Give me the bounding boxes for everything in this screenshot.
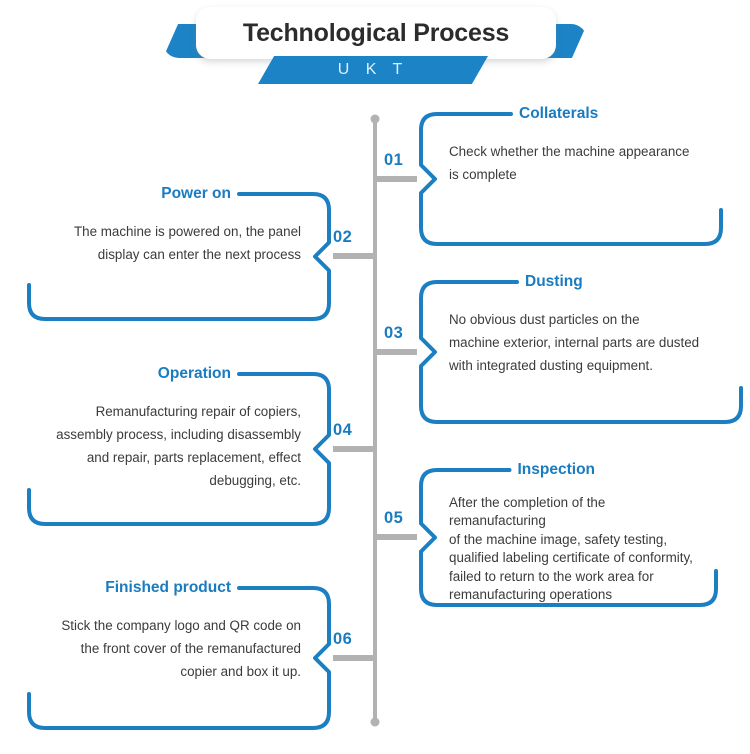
item-body: No obvious dust particles on themachine …	[449, 308, 729, 377]
timeline-item-05[interactable]: InspectionAfter the completion of the re…	[421, 470, 716, 605]
item-body-line: qualified labeling certificate of confor…	[449, 549, 704, 568]
item-body-line: with integrated dusting equipment.	[449, 354, 729, 377]
item-body: The machine is powered on, the paneldisp…	[41, 220, 301, 266]
item-number: 03	[384, 324, 403, 343]
timeline-ticks	[333, 179, 417, 658]
item-body-line: Stick the company logo and QR code on	[41, 614, 301, 637]
timeline-item-06[interactable]: Finished productStick the company logo a…	[29, 588, 329, 728]
item-body-line: display can enter the next process	[41, 243, 301, 266]
item-number: 04	[333, 421, 352, 440]
timeline-dot-bottom	[371, 718, 380, 727]
item-number: 01	[384, 151, 403, 170]
item-heading: Collaterals	[519, 105, 598, 123]
item-body-line: debugging, etc.	[41, 469, 301, 492]
item-number: 06	[333, 630, 352, 649]
item-body: Stick the company logo and QR code onthe…	[41, 614, 301, 683]
item-body-line: Remanufacturing repair of copiers,	[41, 400, 301, 423]
page-header: Technological Process U K T	[0, 0, 750, 100]
header-subtitle: U K T	[258, 56, 488, 84]
item-heading: Finished product	[105, 579, 231, 597]
item-body-line: The machine is powered on, the panel	[41, 220, 301, 243]
item-body-line: is complete	[449, 163, 709, 186]
item-body-line: copier and box it up.	[41, 660, 301, 683]
item-body-line: remanufacturing operations	[449, 586, 704, 605]
item-body: Check whether the machine appearanceis c…	[449, 140, 709, 186]
item-heading: Power on	[161, 185, 231, 203]
item-body-line: assembly process, including disassembly	[41, 423, 301, 446]
timeline-item-04[interactable]: OperationRemanufacturing repair of copie…	[29, 374, 329, 524]
item-body-line: failed to return to the work area for	[449, 568, 704, 587]
item-body-line: the front cover of the remanufactured	[41, 637, 301, 660]
item-body-line: machine exterior, internal parts are dus…	[449, 331, 729, 354]
item-heading: Dusting	[525, 273, 583, 291]
item-body: After the completion of the remanufactur…	[449, 494, 704, 605]
timeline-item-01[interactable]: CollateralsCheck whether the machine app…	[421, 114, 721, 244]
item-number: 02	[333, 228, 352, 247]
item-heading: Inspection	[518, 461, 596, 479]
item-body-line: No obvious dust particles on the	[449, 308, 729, 331]
timeline-item-02[interactable]: Power onThe machine is powered on, the p…	[29, 194, 329, 319]
item-body-line: and repair, parts replacement, effect	[41, 446, 301, 469]
item-heading: Operation	[158, 365, 231, 383]
page-title: Technological Process	[196, 7, 556, 59]
item-body-line: of the machine image, safety testing,	[449, 531, 704, 550]
item-body-line: Check whether the machine appearance	[449, 140, 709, 163]
item-body-line: After the completion of the remanufactur…	[449, 494, 704, 531]
timeline-dot-top	[371, 115, 380, 124]
item-body: Remanufacturing repair of copiers,assemb…	[41, 400, 301, 492]
timeline-item-03[interactable]: DustingNo obvious dust particles on them…	[421, 282, 741, 422]
item-number: 05	[384, 509, 403, 528]
